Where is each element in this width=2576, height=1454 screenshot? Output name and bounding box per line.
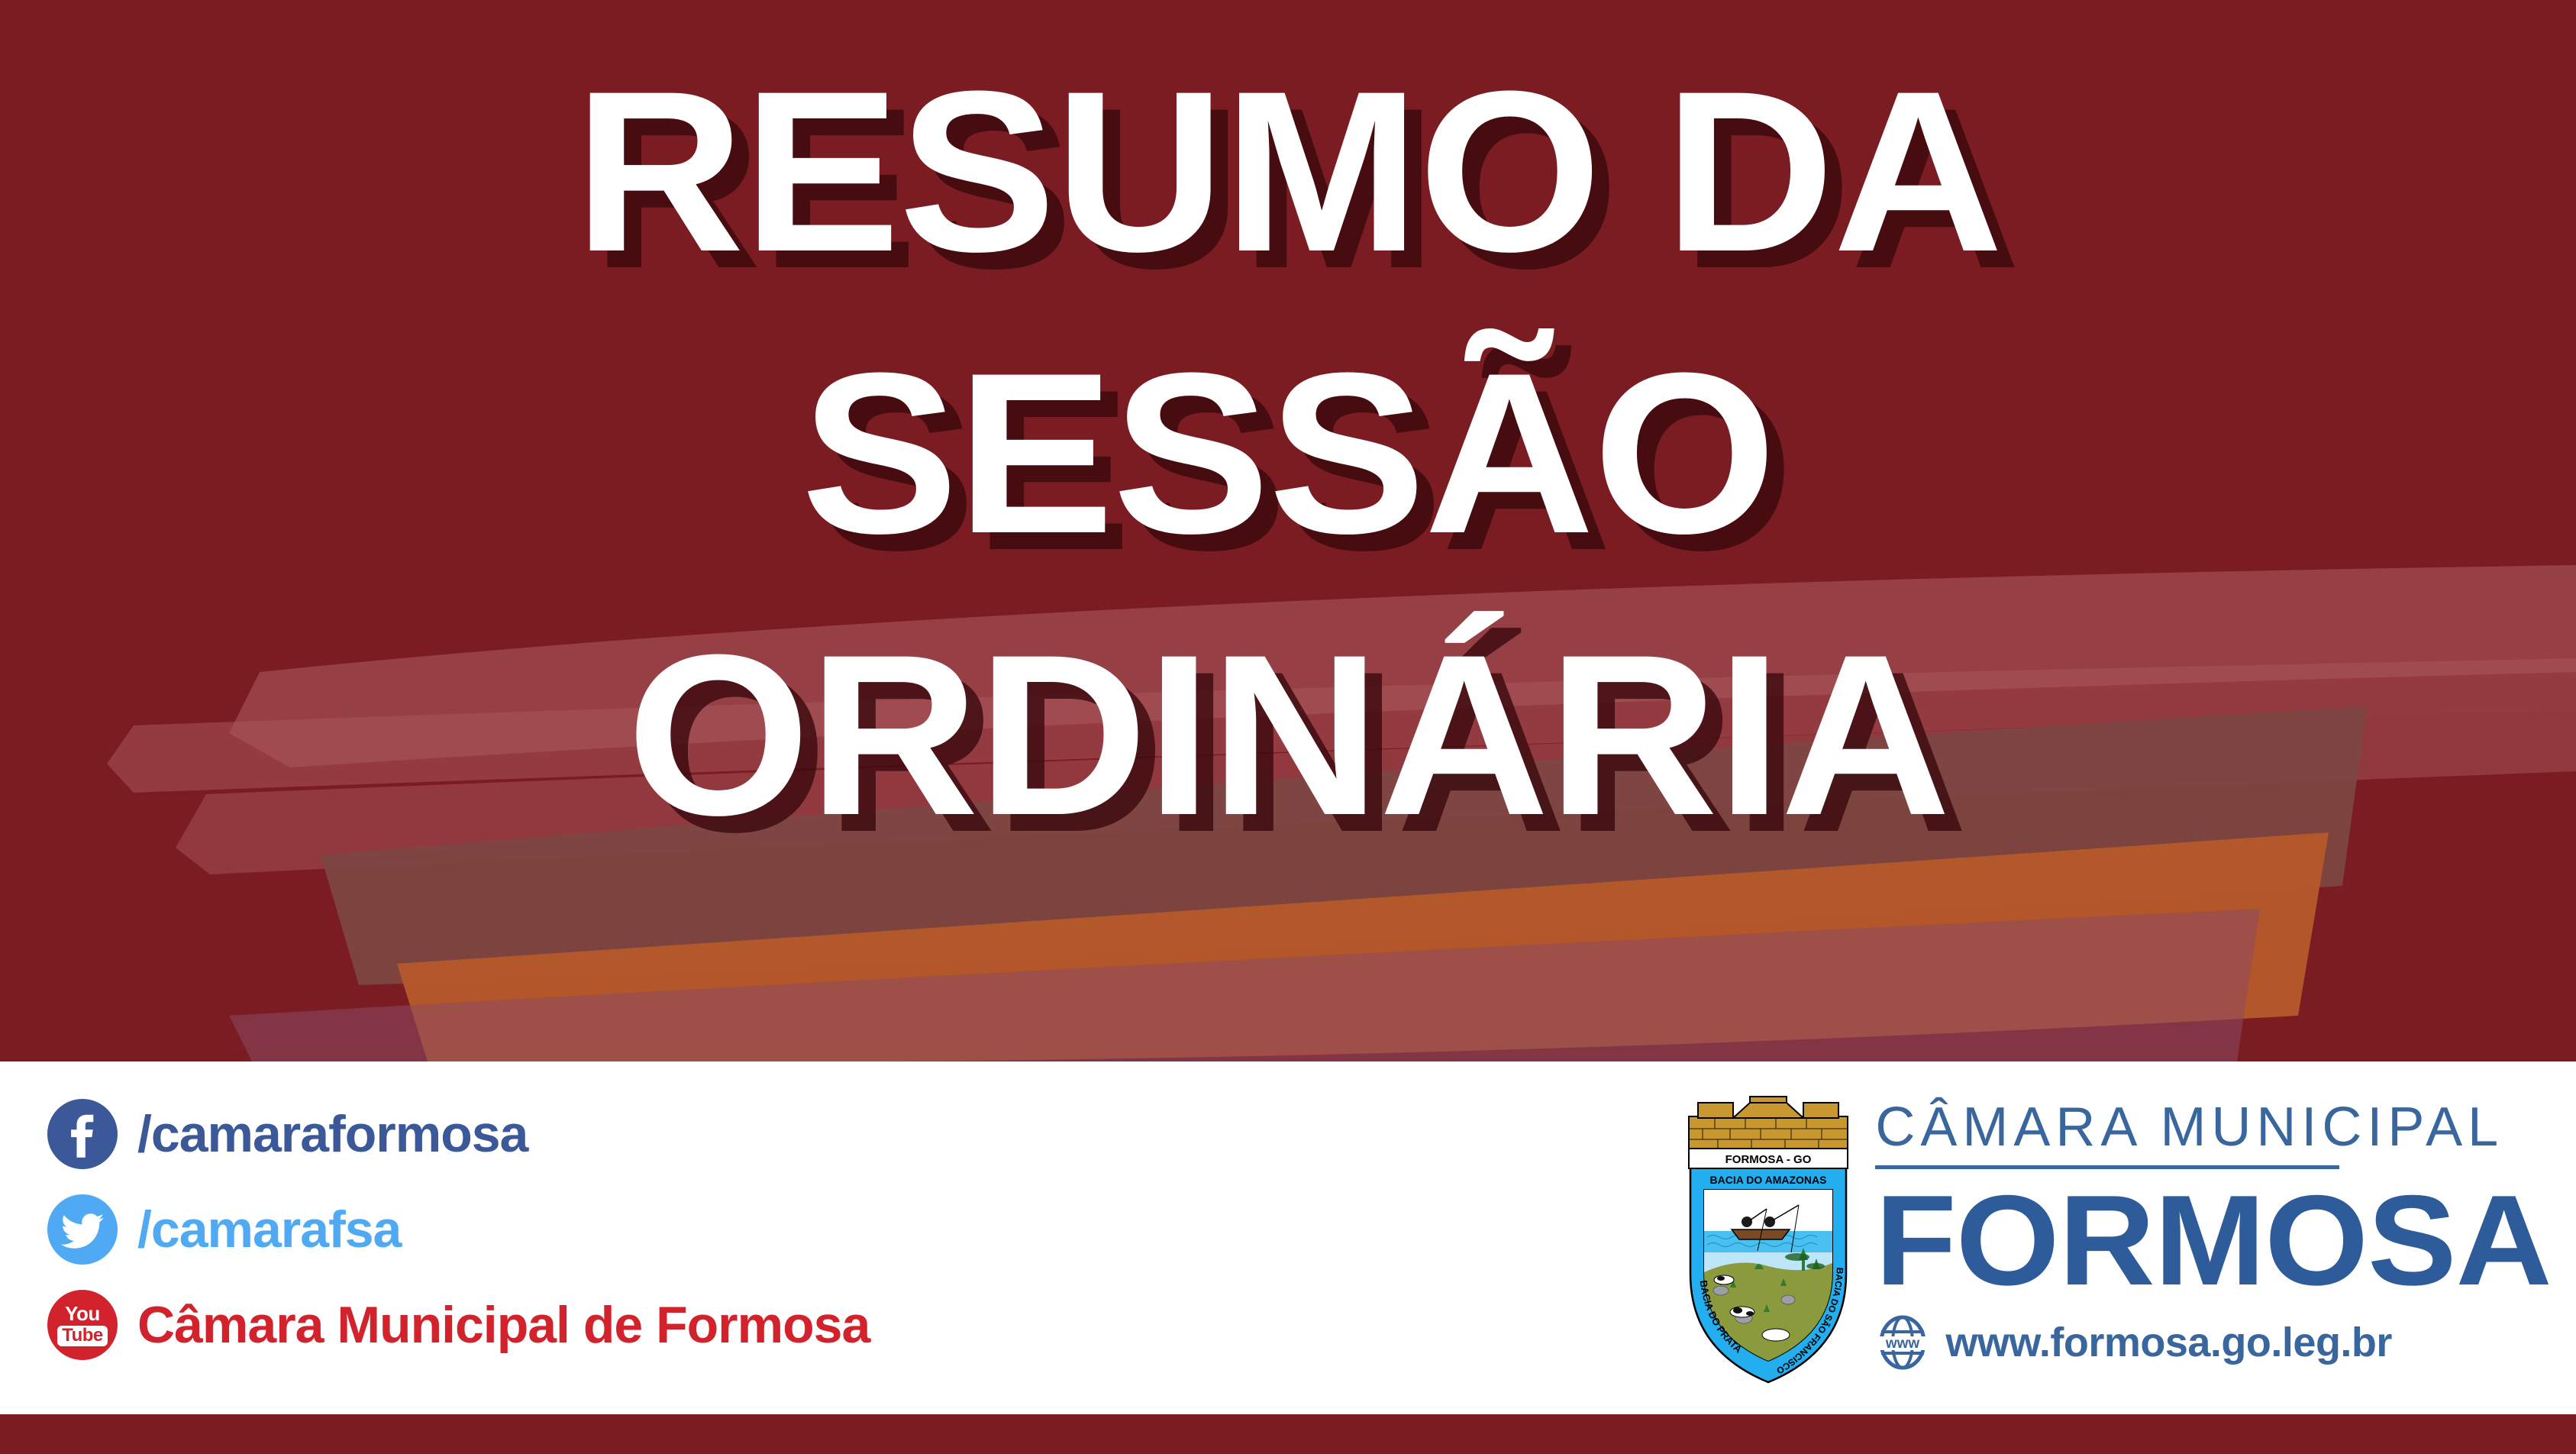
- title-line-3: ORDINÁRIA: [0, 594, 2576, 876]
- youtube-glyph-tube: Tube: [57, 1326, 108, 1346]
- facebook-handle[interactable]: /camaraformosa: [137, 1104, 528, 1164]
- hero-section: RESUMO DA SESSÃO ORDINÁRIA: [0, 0, 2576, 1061]
- youtube-icon[interactable]: You Tube: [47, 1290, 118, 1360]
- page-title: RESUMO DA SESSÃO ORDINÁRIA: [0, 31, 2576, 876]
- logo-line-camara-municipal: CÂMARA MUNICIPAL: [1875, 1100, 2526, 1155]
- logo-wordmark: CÂMARA MUNICIPAL FORMOSA www www.formosa…: [1875, 1083, 2526, 1370]
- svg-text:www: www: [1885, 1336, 1920, 1352]
- social-row-twitter[interactable]: /camarafsa: [47, 1181, 1269, 1277]
- title-line-2: SESSÃO: [0, 312, 2576, 594]
- bottom-accent-strip: [0, 1414, 2576, 1454]
- title-line-1: RESUMO DA: [0, 31, 2576, 312]
- crest-band-top: FORMOSA - GO: [1725, 1153, 1812, 1166]
- social-row-facebook[interactable]: /camaraformosa: [47, 1086, 1269, 1181]
- social-row-youtube[interactable]: You Tube Câmara Municipal de Formosa: [47, 1277, 1269, 1372]
- crest-band-second: BACIA DO AMAZONAS: [1710, 1174, 1827, 1186]
- website-row[interactable]: www www.formosa.go.leg.br: [1875, 1315, 2526, 1370]
- globe-www-icon: www: [1875, 1315, 1930, 1370]
- social-links-list: /camaraformosa /camarafsa You Tube: [47, 1086, 1269, 1372]
- facebook-icon[interactable]: [47, 1099, 118, 1169]
- coat-of-arms-icon: FORMOSA - GO BACIA DO AMAZONAS: [1684, 1083, 1852, 1388]
- institution-logo-lockup: FORMOSA - GO BACIA DO AMAZONAS: [1684, 1083, 2526, 1388]
- twitter-icon[interactable]: [47, 1194, 118, 1265]
- footer-section: /camaraformosa /camarafsa You Tube: [0, 1061, 2576, 1414]
- poster-canvas: RESUMO DA SESSÃO ORDINÁRIA /camaraformos…: [0, 0, 2576, 1454]
- twitter-handle[interactable]: /camarafsa: [137, 1200, 401, 1259]
- youtube-handle[interactable]: Câmara Municipal de Formosa: [137, 1295, 870, 1355]
- logo-line-formosa: FORMOSA: [1875, 1175, 2552, 1306]
- youtube-glyph-you: You: [65, 1304, 100, 1323]
- website-url[interactable]: www.formosa.go.leg.br: [1945, 1319, 2392, 1366]
